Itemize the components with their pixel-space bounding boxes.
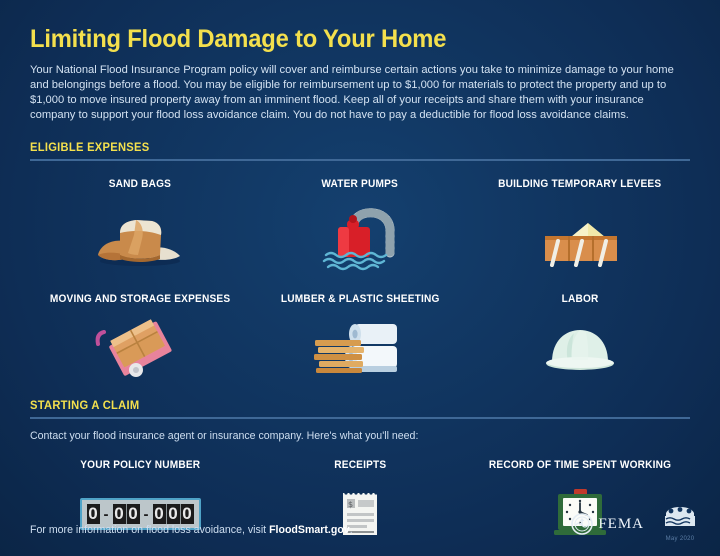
expense-caption: LABOR bbox=[562, 293, 599, 305]
fema-seal-icon bbox=[571, 513, 593, 535]
eligible-expenses-heading: ELIGIBLE EXPENSES bbox=[30, 140, 644, 154]
claim-caption: RECORD OF TIME SPENT WORKING bbox=[489, 459, 671, 471]
expense-item-labor: LABOR bbox=[470, 289, 690, 381]
starting-claim-section-header: STARTING A CLAIM bbox=[30, 398, 690, 419]
fema-wordmark: FEMA bbox=[598, 516, 644, 533]
nfip-logo: May 2020 bbox=[662, 503, 698, 542]
section-divider bbox=[30, 159, 690, 161]
water-pump-icon bbox=[250, 200, 470, 276]
section-divider bbox=[30, 417, 690, 419]
starting-claim-heading: STARTING A CLAIM bbox=[30, 398, 644, 412]
footer-text-after: . bbox=[350, 524, 353, 536]
expense-item-moving-storage: MOVING AND STORAGE EXPENSES bbox=[30, 289, 250, 381]
floodsmart-link[interactable]: FloodSmart.gov bbox=[269, 524, 350, 536]
claim-note: Contact your flood insurance agent or in… bbox=[30, 430, 690, 442]
footer: For more information on flood loss avoid… bbox=[30, 503, 698, 542]
eligible-expenses-section-header: ELIGIBLE EXPENSES bbox=[30, 140, 690, 161]
nfip-building-icon bbox=[662, 503, 698, 529]
temporary-levee-icon bbox=[470, 200, 690, 276]
eligible-expenses-row-2: MOVING AND STORAGE EXPENSES bbox=[30, 289, 690, 381]
expense-item-lumber-sheeting: LUMBER & PLASTIC SHEETING bbox=[250, 289, 470, 381]
fema-logo: FEMA bbox=[571, 513, 644, 542]
eligible-expenses-row-1: SAND BAGS WATER PUMPS bbox=[30, 174, 690, 276]
expense-item-water-pumps: WATER PUMPS bbox=[250, 174, 470, 276]
claim-caption: YOUR POLICY NUMBER bbox=[80, 459, 200, 471]
expense-caption: WATER PUMPS bbox=[322, 178, 399, 190]
claim-caption: RECEIPTS bbox=[334, 459, 386, 471]
date-stamp: May 2020 bbox=[662, 536, 698, 542]
logo-group: FEMA May 2020 bbox=[571, 503, 698, 542]
footer-note: For more information on flood loss avoid… bbox=[30, 524, 353, 542]
lumber-sheeting-icon bbox=[250, 315, 470, 381]
sand-bags-icon bbox=[30, 200, 250, 276]
expense-item-sand-bags: SAND BAGS bbox=[30, 174, 250, 276]
footer-text-before: For more information on flood loss avoid… bbox=[30, 524, 269, 536]
page-title: Limiting Flood Damage to Your Home bbox=[30, 26, 657, 54]
infographic-poster: Limiting Flood Damage to Your Home Your … bbox=[0, 0, 720, 556]
hand-truck-icon bbox=[30, 315, 250, 381]
expense-caption: LUMBER & PLASTIC SHEETING bbox=[281, 293, 440, 305]
intro-paragraph: Your National Flood Insurance Program po… bbox=[30, 63, 690, 124]
expense-caption: SAND BAGS bbox=[109, 178, 171, 190]
expense-item-temporary-levees: BUILDING TEMPORARY LEVEES bbox=[470, 174, 690, 276]
expense-caption: BUILDING TEMPORARY LEVEES bbox=[498, 178, 661, 190]
expense-caption: MOVING AND STORAGE EXPENSES bbox=[50, 293, 230, 305]
hard-hat-icon bbox=[470, 315, 690, 381]
